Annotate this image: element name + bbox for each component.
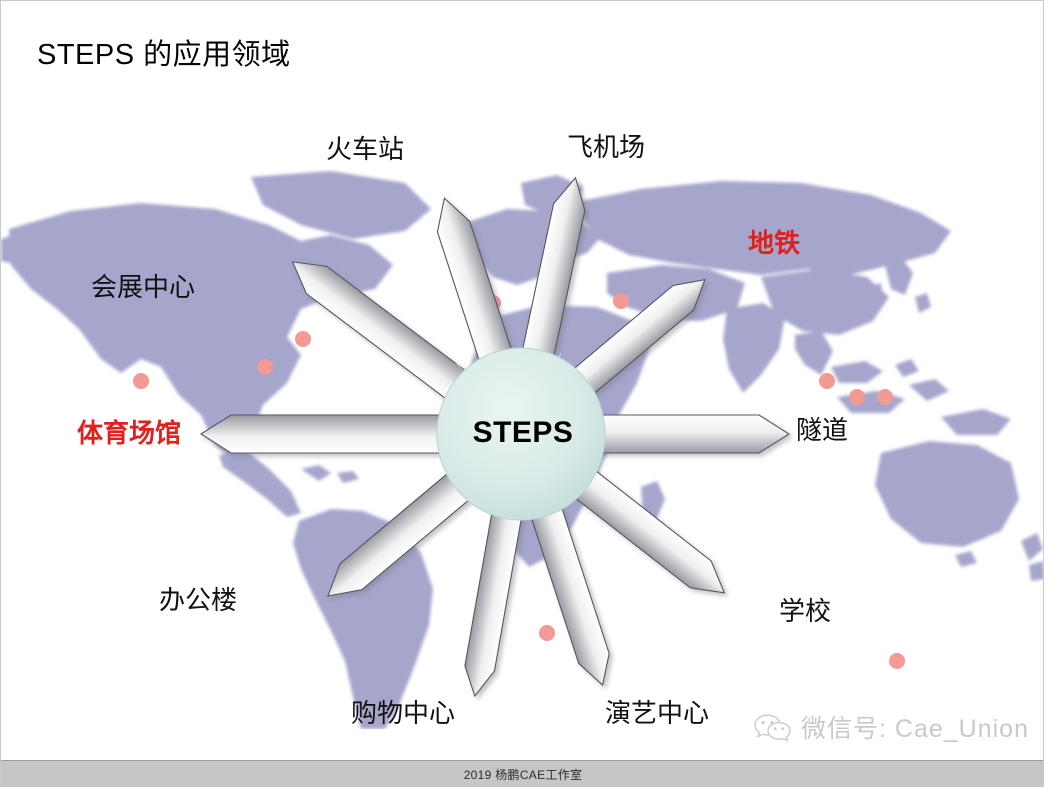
spoke-label-airport: 飞机场	[567, 133, 645, 163]
footer-text: 2019 杨鹏CAE工作室	[464, 766, 583, 783]
slide-footer: 2019 杨鹏CAE工作室	[1, 760, 1044, 787]
spoke-label-stadium: 体育场馆	[77, 419, 181, 449]
spoke-label-tunnel: 隧道	[796, 416, 848, 446]
spoke-label-performing-arts: 演艺中心	[605, 699, 709, 729]
spoke-label-office-building: 办公楼	[159, 586, 237, 616]
hub-label: STEPS	[443, 416, 603, 450]
slide-title: STEPS 的应用领域	[37, 35, 291, 75]
spoke-label-expo-center: 会展中心	[91, 273, 195, 303]
spoke-label-school: 学校	[779, 597, 831, 627]
wechat-icon	[752, 712, 792, 742]
presentation-slide: STEPS 的应用领域	[0, 0, 1044, 787]
spoke-label-subway: 地铁	[748, 229, 800, 259]
wechat-id-text: 微信号: Cae_Union	[801, 709, 1029, 745]
map-landmasses	[1, 171, 1044, 729]
spoke-label-shopping-mall: 购物中心	[351, 699, 455, 729]
wechat-watermark: 微信号: Cae_Union	[752, 709, 1029, 745]
spoke-label-train-station: 火车站	[326, 135, 404, 165]
